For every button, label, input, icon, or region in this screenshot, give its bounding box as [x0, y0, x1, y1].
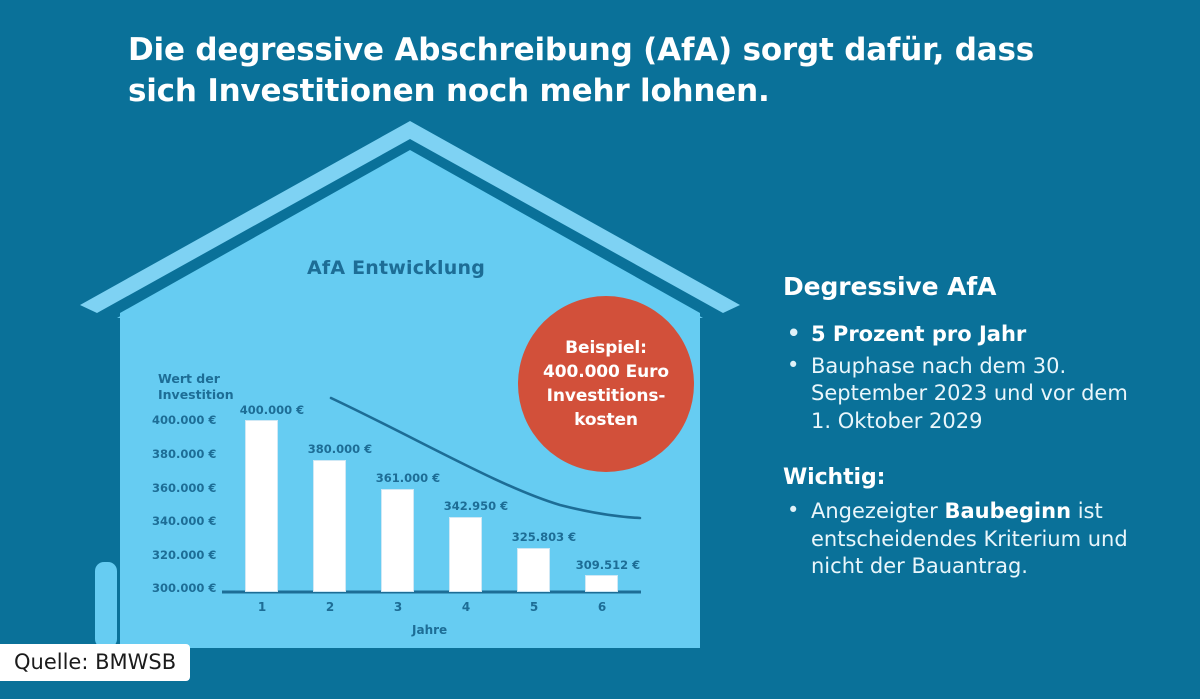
source-badge: Quelle: BMWSB: [0, 644, 190, 681]
bar-year-5: [517, 548, 550, 592]
chimney-shape: [95, 562, 117, 648]
panel-bullet-list-wichtig: Angezeigter Baubeginn ist entscheidendes…: [783, 498, 1153, 581]
bar-year-3: [381, 489, 414, 592]
panel-bullet-1: 5 Prozent pro Jahr: [783, 321, 1153, 349]
y-axis-label-line1: Wert der: [158, 371, 220, 386]
bar-label-year-4: 342.950 €: [444, 499, 508, 513]
badge-line-3: Investitions-: [547, 386, 666, 406]
y-tick-300000: 300.000 €: [152, 581, 214, 595]
x-tick-1: 1: [258, 600, 266, 614]
panel-heading-wichtig: Wichtig:: [783, 465, 1153, 490]
chart-title: AfA Entwicklung: [307, 257, 485, 279]
chart-y-axis-label: Wert der Investition: [158, 371, 248, 402]
bar-year-2: [313, 460, 346, 592]
y-tick-360000: 360.000 €: [152, 481, 214, 495]
info-panel: Degressive AfA 5 Prozent pro Jahr Baupha…: [783, 272, 1153, 585]
y-tick-400000: 400.000 €: [152, 413, 214, 427]
x-tick-3: 3: [394, 600, 402, 614]
panel-bullet-list: 5 Prozent pro Jahr Bauphase nach dem 30.…: [783, 321, 1153, 435]
bar-label-year-2: 380.000 €: [308, 442, 372, 456]
y-tick-320000: 320.000 €: [152, 548, 214, 562]
bullet-text-bold: Baubeginn: [945, 499, 1072, 523]
bar-label-year-3: 361.000 €: [376, 471, 440, 485]
bar-year-4: [449, 517, 482, 592]
y-tick-380000: 380.000 €: [152, 447, 214, 461]
panel-bullet-2: Bauphase nach dem 30. September 2023 und…: [783, 353, 1153, 436]
x-tick-4: 4: [462, 600, 470, 614]
house-gable-shape: [117, 152, 703, 318]
example-badge: Beispiel: 400.000 Euro Investitions- kos…: [518, 296, 694, 472]
bar-label-year-6: 309.512 €: [576, 558, 640, 572]
bar-year-1: [245, 420, 278, 592]
panel-heading: Degressive AfA: [783, 272, 1153, 301]
panel-bullet-wichtig-1: Angezeigter Baubeginn ist entscheidendes…: [783, 498, 1153, 581]
infographic-canvas: Die degressive Abschreibung (AfA) sorgt …: [0, 0, 1200, 699]
panel-spacer: [783, 439, 1153, 465]
badge-line-1: Beispiel:: [565, 338, 647, 358]
bar-year-6: [585, 575, 618, 592]
y-tick-340000: 340.000 €: [152, 514, 214, 528]
bar-label-year-1: 400.000 €: [240, 403, 304, 417]
badge-line-2: 400.000 Euro: [543, 362, 669, 382]
bullet-text-prefix: Angezeigter: [811, 499, 945, 523]
x-tick-6: 6: [598, 600, 606, 614]
x-tick-5: 5: [530, 600, 538, 614]
x-tick-2: 2: [326, 600, 334, 614]
y-axis-label-line2: Investition: [158, 387, 234, 402]
bar-label-year-5: 325.803 €: [512, 530, 576, 544]
badge-line-4: kosten: [574, 410, 638, 430]
